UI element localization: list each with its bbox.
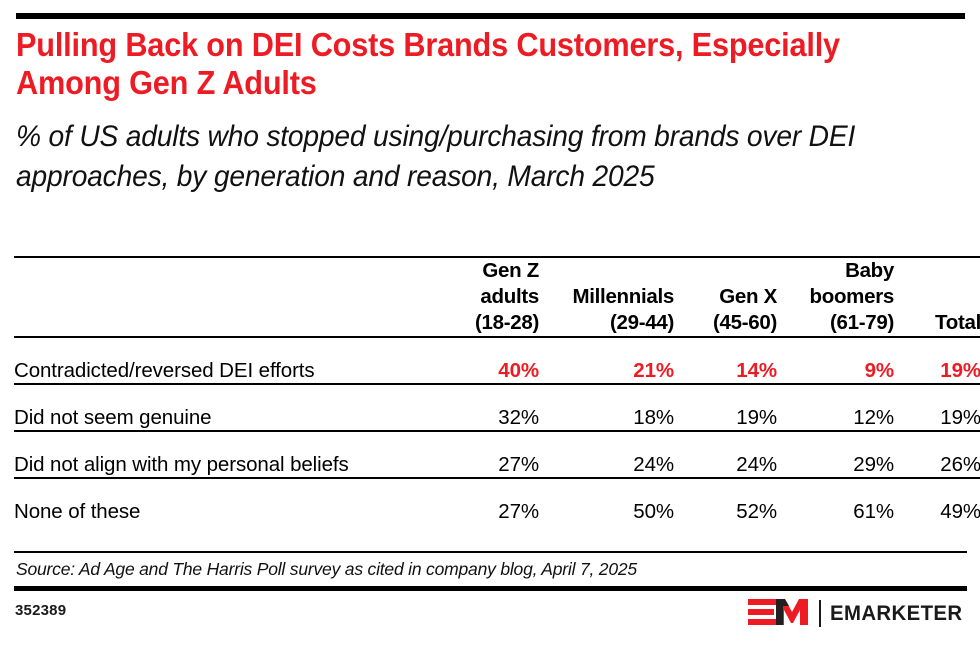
column-header-baby-boomers: Baby boomers (61-79)	[777, 257, 894, 337]
data-table: Gen Z adults (18-28) Millennials (29-44)…	[14, 256, 980, 524]
logo-wordmark: EMARKETER	[830, 603, 963, 624]
row-value-gen-x: 52%	[674, 478, 777, 524]
row-value-gen-x: 19%	[674, 384, 777, 431]
table-header: Gen Z adults (18-28) Millennials (29-44)…	[14, 257, 980, 337]
column-header-gen-z-line-2: adults	[439, 284, 539, 310]
row-value-gen-z: 27%	[439, 478, 539, 524]
row-label: Contradicted/reversed DEI efforts	[14, 337, 439, 384]
row-label: None of these	[14, 478, 439, 524]
row-value-baby-boomers: 29%	[777, 431, 894, 478]
column-header-baby-boomers-line-1: Baby	[777, 258, 894, 284]
column-header-gen-z-line-3: (18-28)	[439, 310, 539, 336]
column-header-total-line-1: Total	[894, 310, 980, 336]
row-value-total: 49%	[894, 478, 980, 524]
column-header-gen-z: Gen Z adults (18-28)	[439, 257, 539, 337]
table-row: None of these 27% 50% 52% 61% 49%	[14, 478, 980, 524]
row-value-millennials: 18%	[539, 384, 674, 431]
column-header-millennials: Millennials (29-44)	[539, 257, 674, 337]
row-value-millennials: 50%	[539, 478, 674, 524]
column-header-total: Total	[894, 257, 980, 337]
table-body: Contradicted/reversed DEI efforts 40% 21…	[14, 337, 980, 524]
row-value-gen-z: 32%	[439, 384, 539, 431]
column-header-gen-z-line-1: Gen Z	[439, 258, 539, 284]
logo-divider	[819, 600, 821, 627]
source-top-rule	[14, 551, 967, 553]
em-logo-icon	[748, 598, 812, 628]
row-value-gen-z: 40%	[439, 337, 539, 384]
row-value-baby-boomers: 12%	[777, 384, 894, 431]
chart-card: Pulling Back on DEI Costs Brands Custome…	[0, 0, 980, 646]
row-label: Did not align with my personal beliefs	[14, 431, 439, 478]
row-value-baby-boomers: 9%	[777, 337, 894, 384]
table-row: Contradicted/reversed DEI efforts 40% 21…	[14, 337, 980, 384]
column-header-gen-x-line-1: Gen X	[674, 284, 777, 310]
row-value-gen-z: 27%	[439, 431, 539, 478]
header-row-label-spacer	[14, 257, 439, 337]
table-header-row: Gen Z adults (18-28) Millennials (29-44)…	[14, 257, 980, 337]
row-value-millennials: 21%	[539, 337, 674, 384]
bottom-rule	[14, 586, 967, 591]
column-header-millennials-line-1: Millennials	[539, 284, 674, 310]
column-header-baby-boomers-line-2: boomers	[777, 284, 894, 310]
page-subtitle: % of US adults who stopped using/purchas…	[16, 117, 918, 197]
row-label: Did not seem genuine	[14, 384, 439, 431]
row-value-total: 19%	[894, 337, 980, 384]
source-note: Source: Ad Age and The Harris Poll surve…	[16, 558, 966, 580]
page-title: Pulling Back on DEI Costs Brands Custome…	[16, 26, 890, 102]
row-value-baby-boomers: 61%	[777, 478, 894, 524]
column-header-gen-x: Gen X (45-60)	[674, 257, 777, 337]
row-value-total: 19%	[894, 384, 980, 431]
column-header-millennials-line-2: (29-44)	[539, 310, 674, 336]
data-table-container: Gen Z adults (18-28) Millennials (29-44)…	[14, 256, 967, 524]
row-value-millennials: 24%	[539, 431, 674, 478]
row-value-gen-x: 24%	[674, 431, 777, 478]
chart-id: 352389	[15, 602, 66, 619]
column-header-gen-x-line-2: (45-60)	[674, 310, 777, 336]
emarketer-logo: EMARKETER	[748, 598, 967, 628]
row-value-gen-x: 14%	[674, 337, 777, 384]
table-row: Did not seem genuine 32% 18% 19% 12% 19%	[14, 384, 980, 431]
row-value-total: 26%	[894, 431, 980, 478]
top-rule	[16, 13, 965, 19]
column-header-baby-boomers-line-3: (61-79)	[777, 310, 894, 336]
table-row: Did not align with my personal beliefs 2…	[14, 431, 980, 478]
